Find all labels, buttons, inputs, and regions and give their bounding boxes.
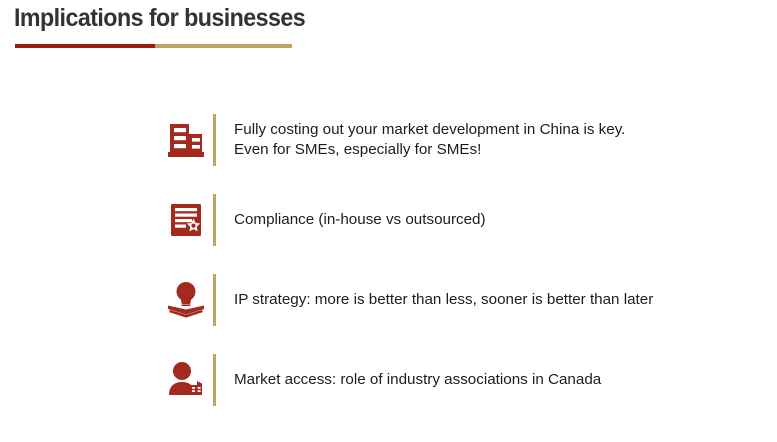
list-item: Market access: role of industry associat… (163, 340, 763, 420)
list-item: Compliance (in-house vs outsourced) (163, 180, 763, 260)
bullet-list: Fully costing out your market developmen… (163, 100, 763, 420)
list-item-label: IP strategy: more is better than less, s… (234, 290, 653, 310)
page-title: Implications for businesses (14, 4, 305, 33)
title-underline-rule (15, 44, 292, 48)
person-chart-icon (163, 354, 209, 406)
lightbulb-book-icon (163, 274, 209, 326)
bullet-divider (213, 194, 216, 246)
rule-segment-red (15, 44, 155, 48)
bullet-divider (213, 114, 216, 166)
list-item: Fully costing out your market developmen… (163, 100, 763, 180)
rule-segment-gold (155, 44, 292, 48)
certificate-document-icon (163, 194, 209, 246)
office-building-icon (163, 114, 209, 166)
list-item-label: Fully costing out your market developmen… (234, 120, 625, 160)
list-item-label: Market access: role of industry associat… (234, 370, 601, 390)
list-item-label: Compliance (in-house vs outsourced) (234, 210, 486, 230)
bullet-divider (213, 274, 216, 326)
bullet-divider (213, 354, 216, 406)
list-item: IP strategy: more is better than less, s… (163, 260, 763, 340)
